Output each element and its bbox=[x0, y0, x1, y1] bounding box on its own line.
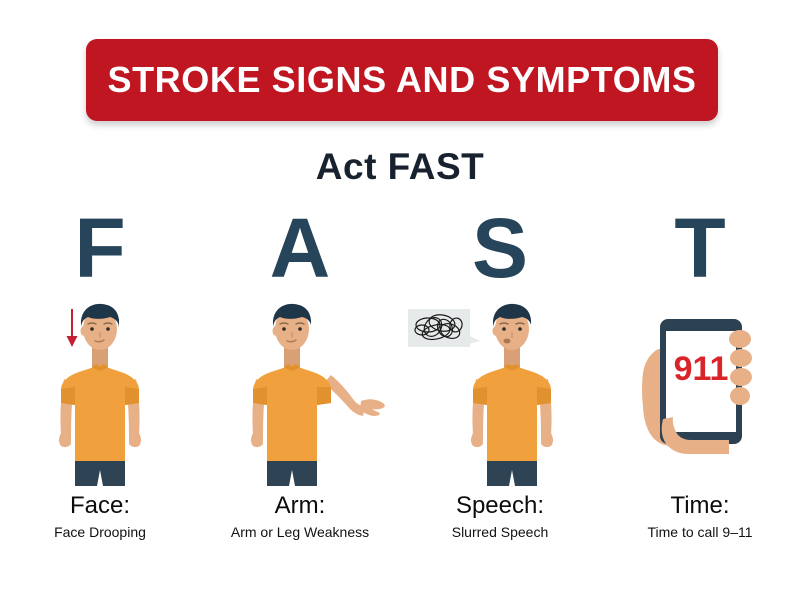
big-letter-t: T bbox=[600, 205, 800, 291]
fast-columns: F bbox=[0, 205, 800, 550]
caption-title-face: Face: bbox=[0, 492, 200, 520]
phone-screen-911-text: 911 bbox=[674, 350, 729, 388]
big-letter-a: A bbox=[200, 205, 400, 291]
caption-sub-face: Face Drooping bbox=[0, 523, 200, 542]
caption-sub-arm: Arm or Leg Weakness bbox=[200, 523, 400, 542]
big-letter-f: F bbox=[0, 205, 200, 291]
person-arm-weakness-icon bbox=[200, 301, 400, 486]
caption-time: Time: Time to call 9–11 bbox=[600, 492, 800, 542]
column-arm: A bbox=[200, 205, 400, 550]
column-speech: S bbox=[400, 205, 600, 550]
caption-sub-speech: Slurred Speech bbox=[400, 523, 600, 542]
stroke-infographic-poster: STROKE SIGNS AND SYMPTOMS Act FAST F bbox=[0, 0, 800, 591]
caption-title-arm: Arm: bbox=[200, 492, 400, 520]
hand-holding-phone-icon: 911 bbox=[600, 301, 800, 486]
caption-title-time: Time: bbox=[600, 492, 800, 520]
caption-arm: Arm: Arm or Leg Weakness bbox=[200, 492, 400, 542]
caption-title-speech: Speech: bbox=[400, 492, 600, 520]
column-face: F bbox=[0, 205, 200, 550]
caption-sub-time: Time to call 9–11 bbox=[600, 523, 800, 542]
person-face-drooping-icon bbox=[0, 301, 200, 486]
caption-face: Face: Face Drooping bbox=[0, 492, 200, 542]
scribble-speech-bubble-icon bbox=[408, 309, 480, 347]
title-banner: STROKE SIGNS AND SYMPTOMS bbox=[86, 39, 718, 121]
subtitle-act-fast: Act FAST bbox=[0, 146, 800, 188]
poster-title: STROKE SIGNS AND SYMPTOMS bbox=[107, 59, 696, 101]
caption-speech: Speech: Slurred Speech bbox=[400, 492, 600, 542]
person-slurred-speech-icon bbox=[400, 301, 600, 486]
big-letter-s: S bbox=[400, 205, 600, 291]
column-time: T 911 bbox=[600, 205, 800, 550]
